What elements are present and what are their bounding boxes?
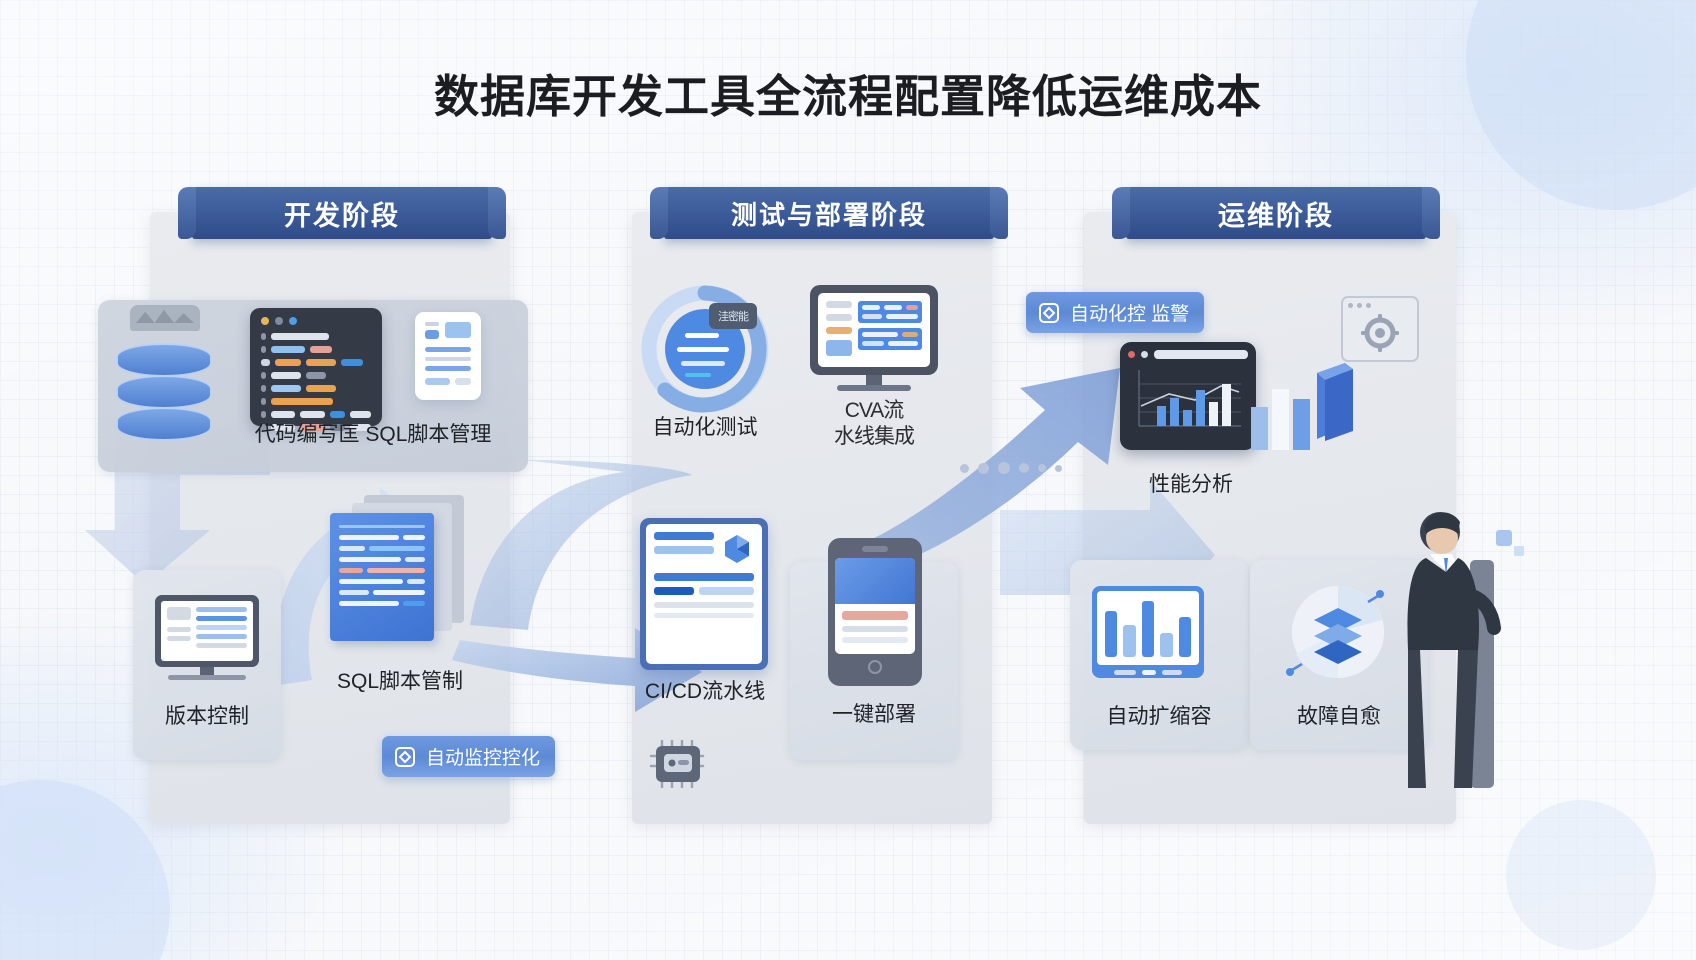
donut-tooltip: 洼密能	[709, 303, 757, 329]
phase-banner-dev[interactable]: 开发阶段	[192, 187, 492, 239]
badge-auto-monitoring-alert[interactable]: 自动化控 监警	[1026, 292, 1204, 333]
phase-banner-test[interactable]: 测试与部署阶段	[664, 187, 994, 239]
pipeline-document-icon	[640, 518, 768, 670]
donut-chart-icon: 洼密能	[641, 285, 769, 413]
phase-banner-ops[interactable]: 运维阶段	[1126, 187, 1426, 239]
document-icon	[415, 312, 481, 400]
diamond-icon	[392, 744, 418, 770]
standing-person-illustration	[1400, 500, 1530, 790]
desktop-monitor-icon	[810, 285, 938, 397]
tile-label-pipeline-integration: CVA流 水线集成	[798, 398, 950, 451]
bar-chart-window-icon	[1092, 586, 1204, 678]
database-icon	[116, 305, 212, 445]
tile-label-line1: CVA流	[798, 398, 950, 424]
tile-label-automated-testing: 自动化测试	[617, 411, 793, 441]
dotted-trail	[960, 462, 1062, 474]
decor-blob-bottom-right	[1506, 800, 1656, 950]
tile-label-auto-scaling: 自动扩缩容	[1070, 700, 1248, 730]
badge-label: 自动化控 监警	[1070, 299, 1189, 326]
page-title: 数据库开发工具全流程配置降低运维成本	[0, 60, 1696, 125]
tile-label-sql-script-control: SQL脚本管制	[285, 665, 515, 695]
tile-label-cicd-pipeline: CI/CD流水线	[617, 675, 793, 705]
tile-label-version-control: 版本控制	[133, 700, 281, 730]
hexagon-icon	[720, 532, 754, 566]
analytics-dashboard-icon	[1120, 342, 1256, 450]
tile-label-performance-analysis: 性能分析	[1105, 468, 1277, 498]
layers-healing-icon	[1278, 582, 1398, 682]
phase-banner-label: 运维阶段	[1218, 194, 1334, 233]
chip-icon	[648, 740, 710, 788]
gear-window-icon	[1341, 296, 1419, 362]
badge-label: 自动监控控化	[426, 743, 540, 770]
tile-label-line2: 水线集成	[798, 424, 950, 450]
phase-banner-label: 开发阶段	[284, 194, 400, 233]
mobile-phone-icon	[828, 538, 922, 686]
sql-script-stack-icon	[330, 495, 468, 635]
tile-label-one-click-deploy: 一键部署	[790, 698, 958, 728]
badge-auto-monitor[interactable]: 自动监控控化	[382, 736, 555, 777]
phase-banner-label: 测试与部署阶段	[731, 195, 927, 232]
tile-label-code-writing: 代码编写匡 SQL脚本管理	[228, 418, 518, 448]
code-editor-icon	[250, 308, 382, 426]
diamond-icon	[1036, 300, 1062, 326]
monitor-icon	[155, 595, 259, 685]
bar-chart-3d-decor	[1245, 355, 1355, 450]
line-chart	[1128, 366, 1248, 432]
